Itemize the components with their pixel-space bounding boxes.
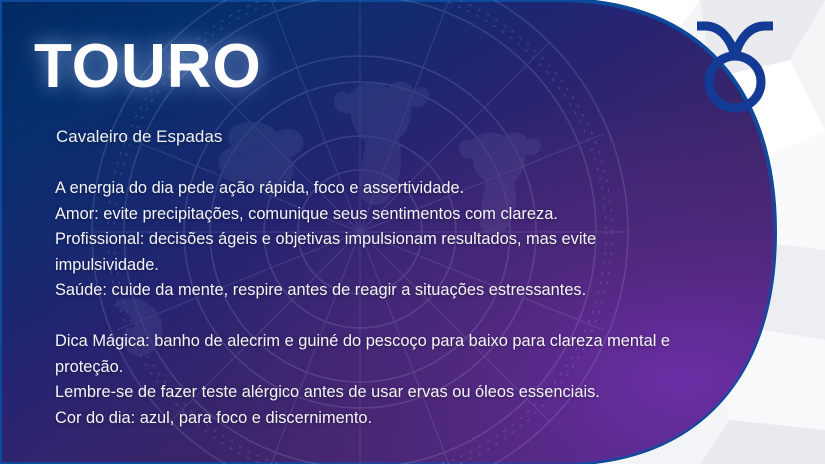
taurus-symbol-icon xyxy=(687,14,783,119)
body-line: Lembre-se de fazer teste alérgico antes … xyxy=(55,380,695,406)
body-line: Saúde: cuide da mente, respire antes de … xyxy=(55,278,695,304)
horoscope-body: A energia do dia pede ação rápida, foco … xyxy=(55,176,695,431)
body-line: Amor: evite precipitações, comunique seu… xyxy=(55,202,695,228)
body-line: Cor do dia: azul, para foco e discernime… xyxy=(55,406,695,432)
body-line: Profissional: decisões ágeis e objetivas… xyxy=(55,227,695,278)
body-line: A energia do dia pede ação rápida, foco … xyxy=(55,176,695,202)
paragraph-spacer xyxy=(55,304,695,329)
horoscope-card: TOURO Cavaleiro de Espadas A energia do … xyxy=(0,0,825,464)
body-line: Dica Mágica: banho de alecrim e guiné do… xyxy=(55,329,695,380)
card-subtitle: Cavaleiro de Espadas xyxy=(56,127,222,147)
page-title: TOURO xyxy=(34,36,262,98)
